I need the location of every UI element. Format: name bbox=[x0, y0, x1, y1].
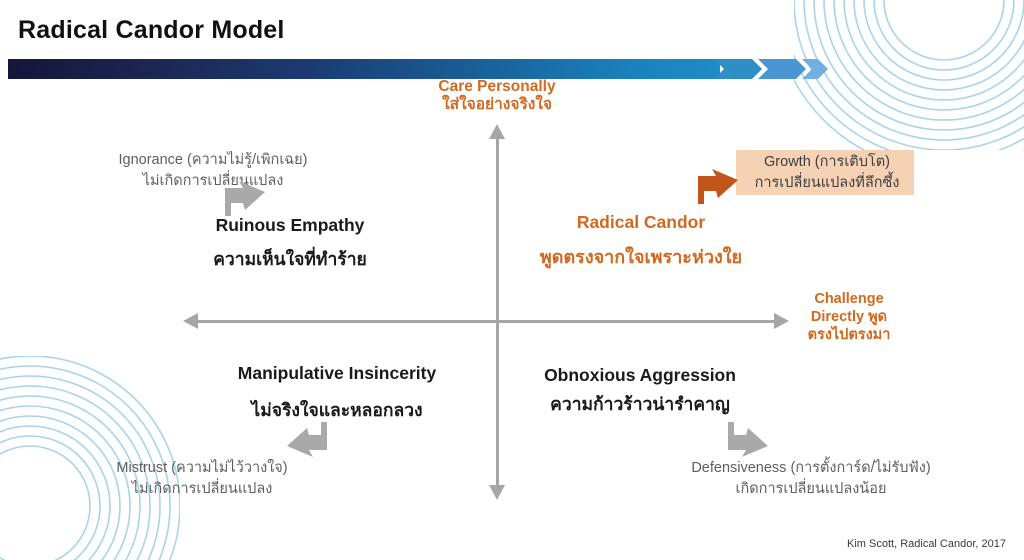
quadrant-manipulative-insincerity-en: Manipulative Insincerity bbox=[182, 361, 492, 386]
outcome-mistrust-line2: ไม่เกิดการเปลี่ยนแปลง bbox=[80, 479, 324, 500]
quadrant-manipulative-insincerity: Manipulative Insincerity ไม่จริงใจและหลอ… bbox=[182, 361, 492, 424]
quadrant-manipulative-insincerity-th: ไม่จริงใจและหลอกลวง bbox=[182, 398, 492, 423]
decorative-arcs-top-right bbox=[794, 0, 1024, 150]
outcome-growth-line1: Growth (การเติบโต) bbox=[738, 152, 916, 173]
vertical-axis bbox=[496, 138, 499, 486]
arrow-down-right-icon bbox=[722, 418, 772, 460]
outcome-growth-line2: การเปลี่ยนแปลงที่ลึกซึ้ง bbox=[738, 173, 916, 194]
quadrant-ruinous-empathy: Ruinous Empathy ความเห็นใจที่ทำร้าย bbox=[150, 213, 430, 273]
page-title: Radical Candor Model bbox=[18, 16, 285, 45]
axis-label-care-personally: Care Personally ใส่ใจอย่างจริงใจ bbox=[392, 78, 602, 115]
quadrant-ruinous-empathy-th: ความเห็นใจที่ทำร้าย bbox=[150, 247, 430, 272]
quadrant-obnoxious-aggression: Obnoxious Aggression ความก้าวร้าวน่ารำคา… bbox=[500, 363, 780, 418]
arrow-up-left-icon bbox=[219, 180, 271, 222]
outcome-ignorance-line2: ไม่เกิดการเปลี่ยนแปลง bbox=[80, 171, 346, 192]
quadrant-radical-candor-en: Radical Candor bbox=[496, 210, 786, 235]
challenge-directly-line2: Directly พูด bbox=[786, 308, 912, 326]
arrow-up-right-icon bbox=[692, 166, 746, 210]
quadrant-radical-candor: Radical Candor พูดตรงจากใจเพราะห่วงใย bbox=[496, 210, 786, 270]
arrow-down-icon bbox=[489, 485, 505, 500]
outcome-defensiveness: Defensiveness (การตั้งการ์ด/ไม่รับฟัง) เ… bbox=[652, 458, 970, 500]
care-personally-en: Care Personally bbox=[392, 78, 602, 96]
slide-canvas: Radical Candor Model Care Personally ใส่… bbox=[0, 0, 1024, 560]
header-bar-gradient bbox=[8, 59, 720, 79]
source-credit: Kim Scott, Radical Candor, 2017 bbox=[847, 538, 1006, 550]
arrow-left-icon bbox=[183, 313, 198, 329]
header-accent-bar bbox=[8, 59, 820, 79]
arrow-up-icon bbox=[489, 124, 505, 139]
quadrant-ruinous-empathy-en: Ruinous Empathy bbox=[150, 213, 430, 238]
outcome-growth: Growth (การเติบโต) การเปลี่ยนแปลงที่ลึกซ… bbox=[738, 152, 916, 193]
outcome-defensiveness-line2: เกิดการเปลี่ยนแปลงน้อย bbox=[652, 479, 970, 500]
horizontal-axis bbox=[196, 320, 776, 323]
axis-label-challenge-directly: Challenge Directly พูด ตรงไปตรงมา bbox=[786, 290, 912, 344]
outcome-ignorance-line1: Ignorance (ความไม่รู้/เพิกเฉย) bbox=[80, 150, 346, 171]
quadrant-obnoxious-aggression-th: ความก้าวร้าวน่ารำคาญ bbox=[500, 392, 780, 417]
outcome-defensiveness-line1: Defensiveness (การตั้งการ์ด/ไม่รับฟัง) bbox=[652, 458, 970, 479]
outcome-mistrust: Mistrust (ความไม่ไว้วางใจ) ไม่เกิดการเปล… bbox=[80, 458, 324, 500]
quadrant-radical-candor-th: พูดตรงจากใจเพราะห่วงใย bbox=[496, 244, 786, 270]
outcome-mistrust-line1: Mistrust (ความไม่ไว้วางใจ) bbox=[80, 458, 324, 479]
chevron-right-icon-2 bbox=[758, 59, 806, 79]
chevron-right-icon-1 bbox=[714, 59, 762, 79]
quadrant-obnoxious-aggression-en: Obnoxious Aggression bbox=[500, 363, 780, 388]
challenge-directly-line1: Challenge bbox=[786, 290, 912, 308]
challenge-directly-line3: ตรงไปตรงมา bbox=[786, 326, 912, 344]
arrow-down-left-icon bbox=[283, 418, 333, 460]
outcome-ignorance: Ignorance (ความไม่รู้/เพิกเฉย) ไม่เกิดกา… bbox=[80, 150, 346, 192]
care-personally-th: ใส่ใจอย่างจริงใจ bbox=[392, 96, 602, 114]
